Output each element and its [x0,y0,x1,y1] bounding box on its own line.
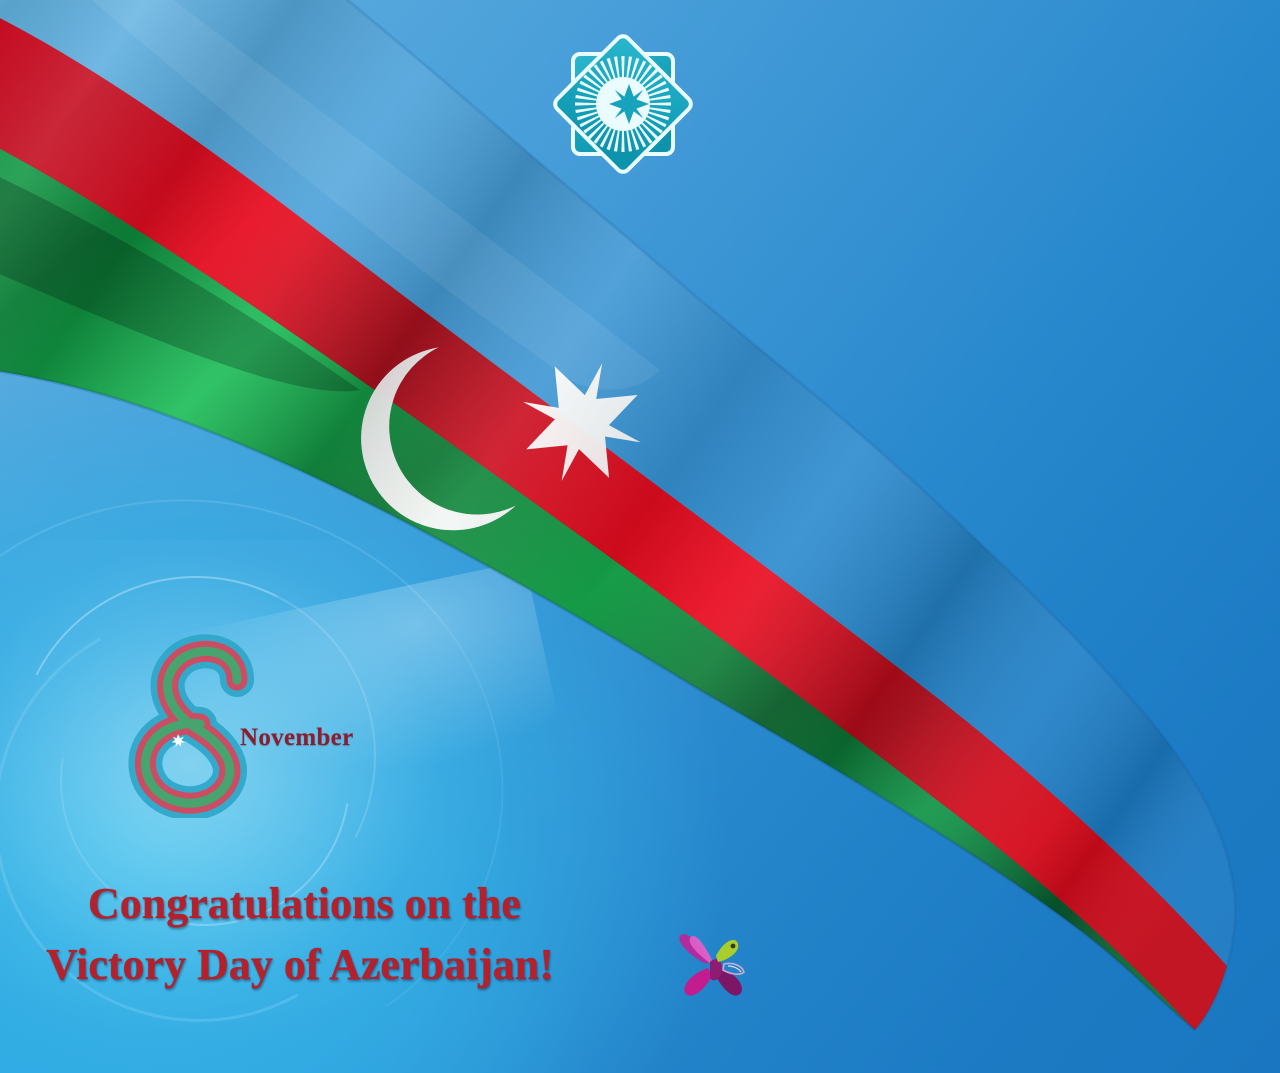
eight-november-logo [104,628,294,818]
greeting-line-1: Congratulations on the [40,874,740,935]
poster-canvas: November Congratulations on the Victory … [0,0,1280,1073]
figure-eight-ribbon-icon [104,628,294,818]
greeting-text: Congratulations on the Victory Day of Az… [40,874,740,995]
fairy-sticker [668,918,760,1010]
azerbaijan-state-emblem [549,24,697,184]
emblem-inner-star-icon [609,84,649,124]
greeting-line-2: Victory Day of Azerbaijan! [40,935,740,996]
eight-pointed-star-emblem-icon [549,24,697,184]
fairy-sticker-icon [668,918,760,1010]
november-label: November [240,724,353,752]
